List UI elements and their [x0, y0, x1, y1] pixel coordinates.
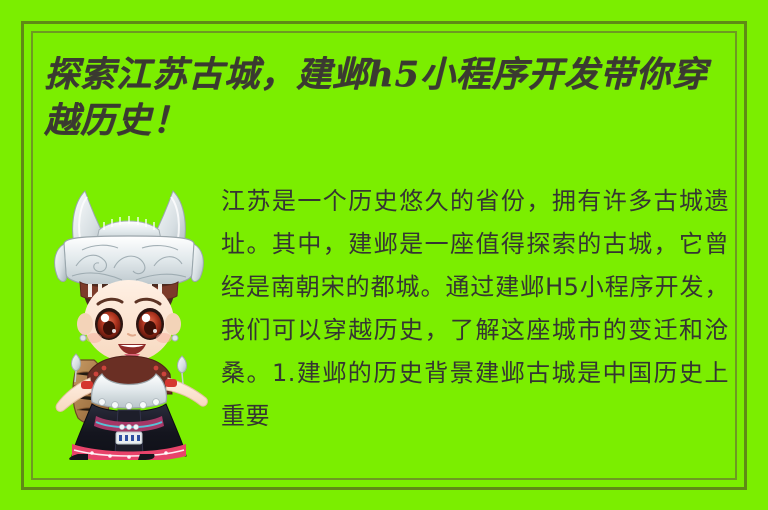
poster-body-text: 江苏是一个历史悠久的省份，拥有许多古城遗址。其中，建邺是一座值得探索的古城，它曾…: [221, 180, 729, 470]
miao-girl-character: [44, 178, 214, 460]
dress: [72, 404, 186, 460]
poster-title: 探索江苏古城，建邺h5小程序开发带你穿越历史！: [44, 52, 734, 144]
poster-canvas: 探索江苏古城，建邺h5小程序开发带你穿越历史！ 江苏是一个历史悠久的省份，拥有许…: [0, 0, 768, 510]
